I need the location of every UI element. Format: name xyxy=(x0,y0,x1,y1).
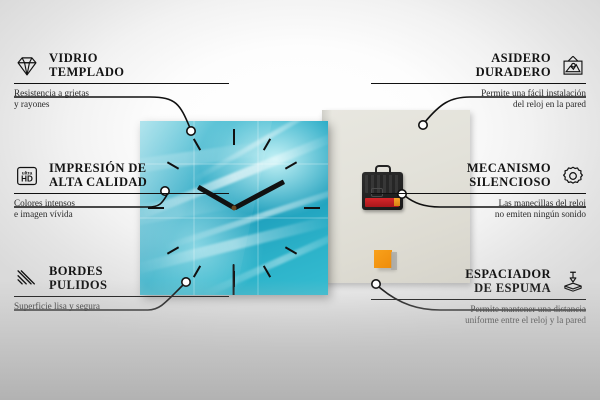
feature-title: ASIDERO DURADERO xyxy=(476,52,551,79)
title-line-2: PULIDOS xyxy=(49,279,107,293)
connector-dot-asidero xyxy=(419,121,427,129)
desc-line-2: e imagen vívida xyxy=(14,209,229,220)
desc-line-1: Superficie lisa y segura xyxy=(14,301,229,312)
title-line-2: DE ESPUMA xyxy=(465,282,551,296)
desc-line-1: Las manecillas del reloj xyxy=(371,198,586,209)
hands-pivot xyxy=(232,206,237,211)
feature-rule xyxy=(371,299,586,300)
feature-title: ESPACIADOR DE ESPUMA xyxy=(465,268,551,295)
feature-mecanismo-silencioso[interactable]: MECANISMO SILENCIOSO Las manecillas del … xyxy=(371,162,586,220)
feature-header: ASIDERO DURADERO xyxy=(371,52,586,79)
feature-title: IMPRESIÓN DE ALTA CALIDAD xyxy=(49,162,147,189)
feature-description: Permite mantener una distancia uniforme … xyxy=(371,304,586,326)
desc-line-2: y rayones xyxy=(14,99,229,110)
feature-title: BORDES PULIDOS xyxy=(49,265,107,292)
title-line-1: MECANISMO xyxy=(467,162,551,176)
feature-description: Las manecillas del reloj no emiten ningú… xyxy=(371,198,586,220)
feature-header: ESPACIADOR DE ESPUMA xyxy=(371,268,586,295)
title-line-1: ESPACIADOR xyxy=(465,268,551,282)
feature-description: Resistencia a grietas y rayones xyxy=(14,88,229,110)
feature-rule xyxy=(14,83,229,84)
title-line-2: SILENCIOSO xyxy=(467,176,551,190)
title-line-1: IMPRESIÓN DE xyxy=(49,162,147,176)
title-line-1: VIDRIO xyxy=(49,52,124,66)
feature-bordes-pulidos[interactable]: BORDES PULIDOS Superficie lisa y segura xyxy=(14,265,229,312)
feature-description: Colores intensos e imagen vívida xyxy=(14,198,229,220)
foam-spacer-arrow-icon xyxy=(560,270,586,294)
gear-icon xyxy=(560,164,586,188)
feature-rule xyxy=(371,193,586,194)
connector-dot-vidrio-templado xyxy=(187,127,195,135)
title-line-2: DURADERO xyxy=(476,66,551,80)
feature-description: Permite una fácil instalación del reloj … xyxy=(371,88,586,110)
feature-header: VIDRIO TEMPLADO xyxy=(14,52,229,79)
feature-rule xyxy=(14,296,229,297)
title-line-2: ALTA CALIDAD xyxy=(49,176,147,190)
feature-vidrio-templado[interactable]: VIDRIO TEMPLADO Resistencia a grietas y … xyxy=(14,52,229,110)
feature-title: VIDRIO TEMPLADO xyxy=(49,52,124,79)
desc-line-2: no emiten ningún sonido xyxy=(371,209,586,220)
feature-header: BORDES PULIDOS xyxy=(14,265,229,292)
title-line-1: BORDES xyxy=(49,265,107,279)
feature-header: ultra HD IMPRESIÓN DE ALTA CALIDAD xyxy=(14,162,229,189)
feature-header: MECANISMO SILENCIOSO xyxy=(371,162,586,189)
title-line-1: ASIDERO xyxy=(476,52,551,66)
feature-title: MECANISMO SILENCIOSO xyxy=(467,162,551,189)
hanging-frame-icon xyxy=(560,54,586,78)
polished-edges-icon xyxy=(14,267,40,291)
infographic-canvas: VIDRIO TEMPLADO Resistencia a grietas y … xyxy=(0,0,600,400)
desc-line-1: Permite una fácil instalación xyxy=(371,88,586,99)
feature-description: Superficie lisa y segura xyxy=(14,301,229,312)
ultra-hd-icon: ultra HD xyxy=(14,164,40,188)
feature-espaciador-de-espuma[interactable]: ESPACIADOR DE ESPUMA Permite mantener un… xyxy=(371,268,586,326)
desc-line-1: Colores intensos xyxy=(14,198,229,209)
feature-impresion-alta-calidad[interactable]: ultra HD IMPRESIÓN DE ALTA CALIDAD Color… xyxy=(14,162,229,220)
desc-line-1: Resistencia a grietas xyxy=(14,88,229,99)
icon-text-hd: HD xyxy=(21,174,33,183)
feature-asidero-duradero[interactable]: ASIDERO DURADERO Permite una fácil insta… xyxy=(371,52,586,110)
desc-line-1: Permite mantener una distancia xyxy=(371,304,586,315)
title-line-2: TEMPLADO xyxy=(49,66,124,80)
desc-line-2: del reloj en la pared xyxy=(371,99,586,110)
desc-line-2: uniforme entre el reloj y la pared xyxy=(371,315,586,326)
feature-rule xyxy=(371,83,586,84)
diamond-icon xyxy=(14,54,40,78)
feature-rule xyxy=(14,193,229,194)
